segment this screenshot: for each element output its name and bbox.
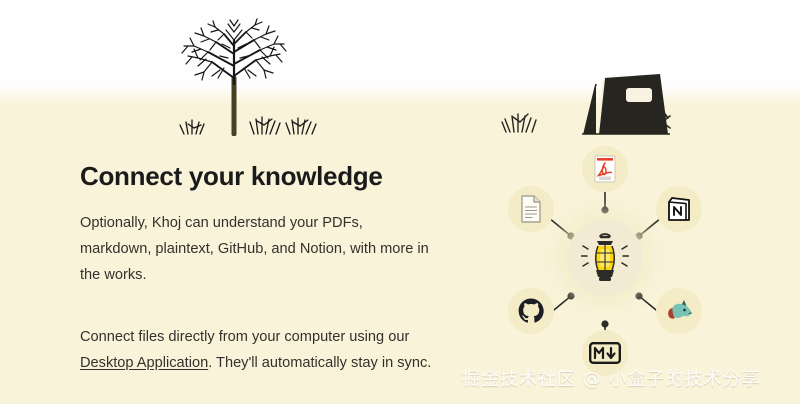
description-paragraph-1: Optionally, Khoj can understand your PDF… bbox=[80, 210, 436, 288]
source-node-markdown[interactable] bbox=[582, 330, 628, 376]
paragraph-2-suffix: . They'll automatically stay in sync. bbox=[208, 355, 431, 371]
sky-background bbox=[0, 0, 800, 96]
tree-illustration bbox=[168, 18, 332, 141]
horizon-gradient bbox=[0, 84, 800, 106]
markdown-icon bbox=[589, 342, 621, 364]
khoj-hub-node[interactable] bbox=[567, 220, 643, 296]
source-node-plaintext[interactable] bbox=[508, 186, 554, 232]
text-column: Connect your knowledge Optionally, Khoj … bbox=[80, 162, 452, 376]
page-root: Connect your knowledge Optionally, Khoj … bbox=[0, 0, 800, 404]
description-paragraph-2: Connect files directly from your compute… bbox=[80, 324, 436, 376]
source-node-org-mode[interactable] bbox=[656, 288, 702, 334]
plaintext-icon bbox=[519, 194, 543, 224]
khoj-lantern-icon bbox=[581, 231, 629, 285]
github-icon bbox=[517, 297, 545, 325]
source-node-github[interactable] bbox=[508, 288, 554, 334]
page-title: Connect your knowledge bbox=[80, 162, 452, 192]
knowledge-sources-diagram bbox=[478, 144, 738, 392]
org-mode-icon bbox=[664, 297, 694, 325]
source-node-pdf[interactable] bbox=[582, 146, 628, 192]
pdf-icon bbox=[592, 154, 618, 184]
paragraph-2-prefix: Connect files directly from your compute… bbox=[80, 329, 409, 345]
tent-illustration bbox=[492, 52, 672, 143]
desktop-application-link[interactable]: Desktop Application bbox=[80, 355, 208, 371]
notion-icon bbox=[665, 195, 693, 223]
source-node-notion[interactable] bbox=[656, 186, 702, 232]
